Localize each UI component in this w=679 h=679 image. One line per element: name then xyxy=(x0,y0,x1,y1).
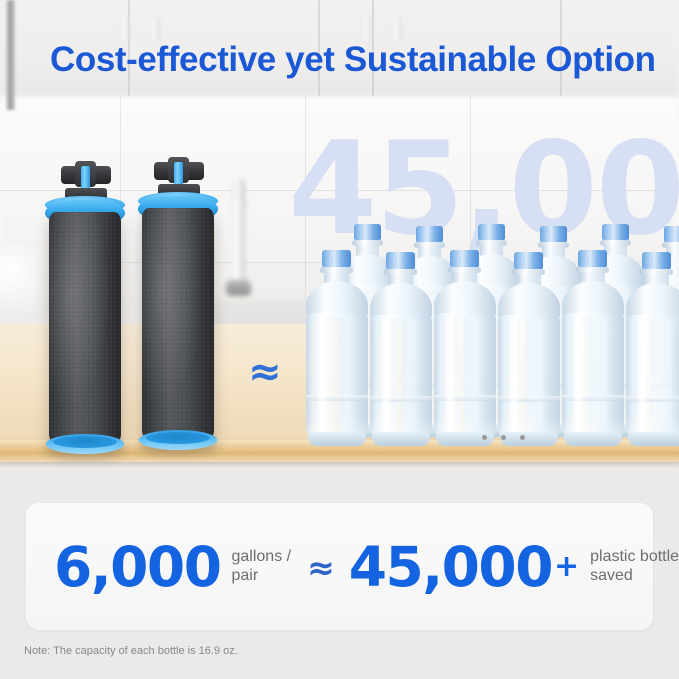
faucet-body xyxy=(232,200,245,286)
gallons-unit: gallons / pair xyxy=(231,548,291,586)
infographic-canvas: 45,000 xyxy=(0,0,679,679)
approx-symbol-photo: ≈ xyxy=(248,352,282,392)
bottle-cap xyxy=(450,250,479,267)
bottle-cap xyxy=(642,252,671,269)
bottle-cap xyxy=(478,224,505,240)
bottle-cap xyxy=(354,224,381,240)
bottles-unit: plastic bottles saved xyxy=(590,548,679,586)
water-bottle xyxy=(433,250,497,448)
product-photo-scene: 45,000 xyxy=(0,0,679,470)
bottle-cap xyxy=(578,250,607,267)
bottle-cap xyxy=(664,226,679,242)
water-bottle xyxy=(497,252,561,450)
cabinet-handle-icon xyxy=(122,16,129,42)
faucet-base xyxy=(226,280,251,296)
cabinet-handle-icon xyxy=(364,16,371,42)
bottles-plus-suffix: + xyxy=(554,552,579,582)
filter-body xyxy=(142,208,214,440)
summary-panel: 6,000 gallons / pair ≈ 45,000 + plastic … xyxy=(26,503,653,630)
approx-symbol-panel: ≈ xyxy=(307,551,335,584)
bottles-value: 45,000 xyxy=(349,540,552,595)
filter-base-inner xyxy=(53,436,117,448)
cabinet-handle-icon xyxy=(394,16,401,42)
filter-cartridge xyxy=(142,152,214,452)
bottle-cap xyxy=(514,252,543,269)
bottles-unit-line2: saved xyxy=(590,567,633,584)
bottles-unit-line1: plastic bottles xyxy=(590,548,679,565)
footnote: Note: The capacity of each bottle is 16.… xyxy=(24,645,238,657)
cabinet-handle-icon xyxy=(152,16,159,42)
gallons-unit-line2: pair xyxy=(231,567,258,584)
water-bottle xyxy=(625,252,679,450)
gallons-unit-line1: gallons / xyxy=(231,548,291,565)
water-bottle xyxy=(305,250,369,448)
water-bottle xyxy=(561,250,625,448)
bottle-cap xyxy=(416,226,443,242)
bottle-cap xyxy=(322,250,351,267)
ellipsis-dots xyxy=(482,435,525,440)
gallons-value: 6,000 xyxy=(54,540,220,595)
counter-shadow xyxy=(0,462,679,470)
bottle-cap xyxy=(386,252,415,269)
filter-cartridge xyxy=(49,156,121,456)
bottle-cap xyxy=(602,224,629,240)
bottle-cap xyxy=(540,226,567,242)
comparison-row: 6,000 gallons / pair ≈ 45,000 + plastic … xyxy=(54,533,679,601)
wall-frame xyxy=(6,0,15,110)
filter-base-inner xyxy=(146,432,210,444)
page-title: Cost-effective yet Sustainable Option xyxy=(50,40,656,80)
filter-body xyxy=(49,212,121,444)
water-bottle xyxy=(369,252,433,450)
